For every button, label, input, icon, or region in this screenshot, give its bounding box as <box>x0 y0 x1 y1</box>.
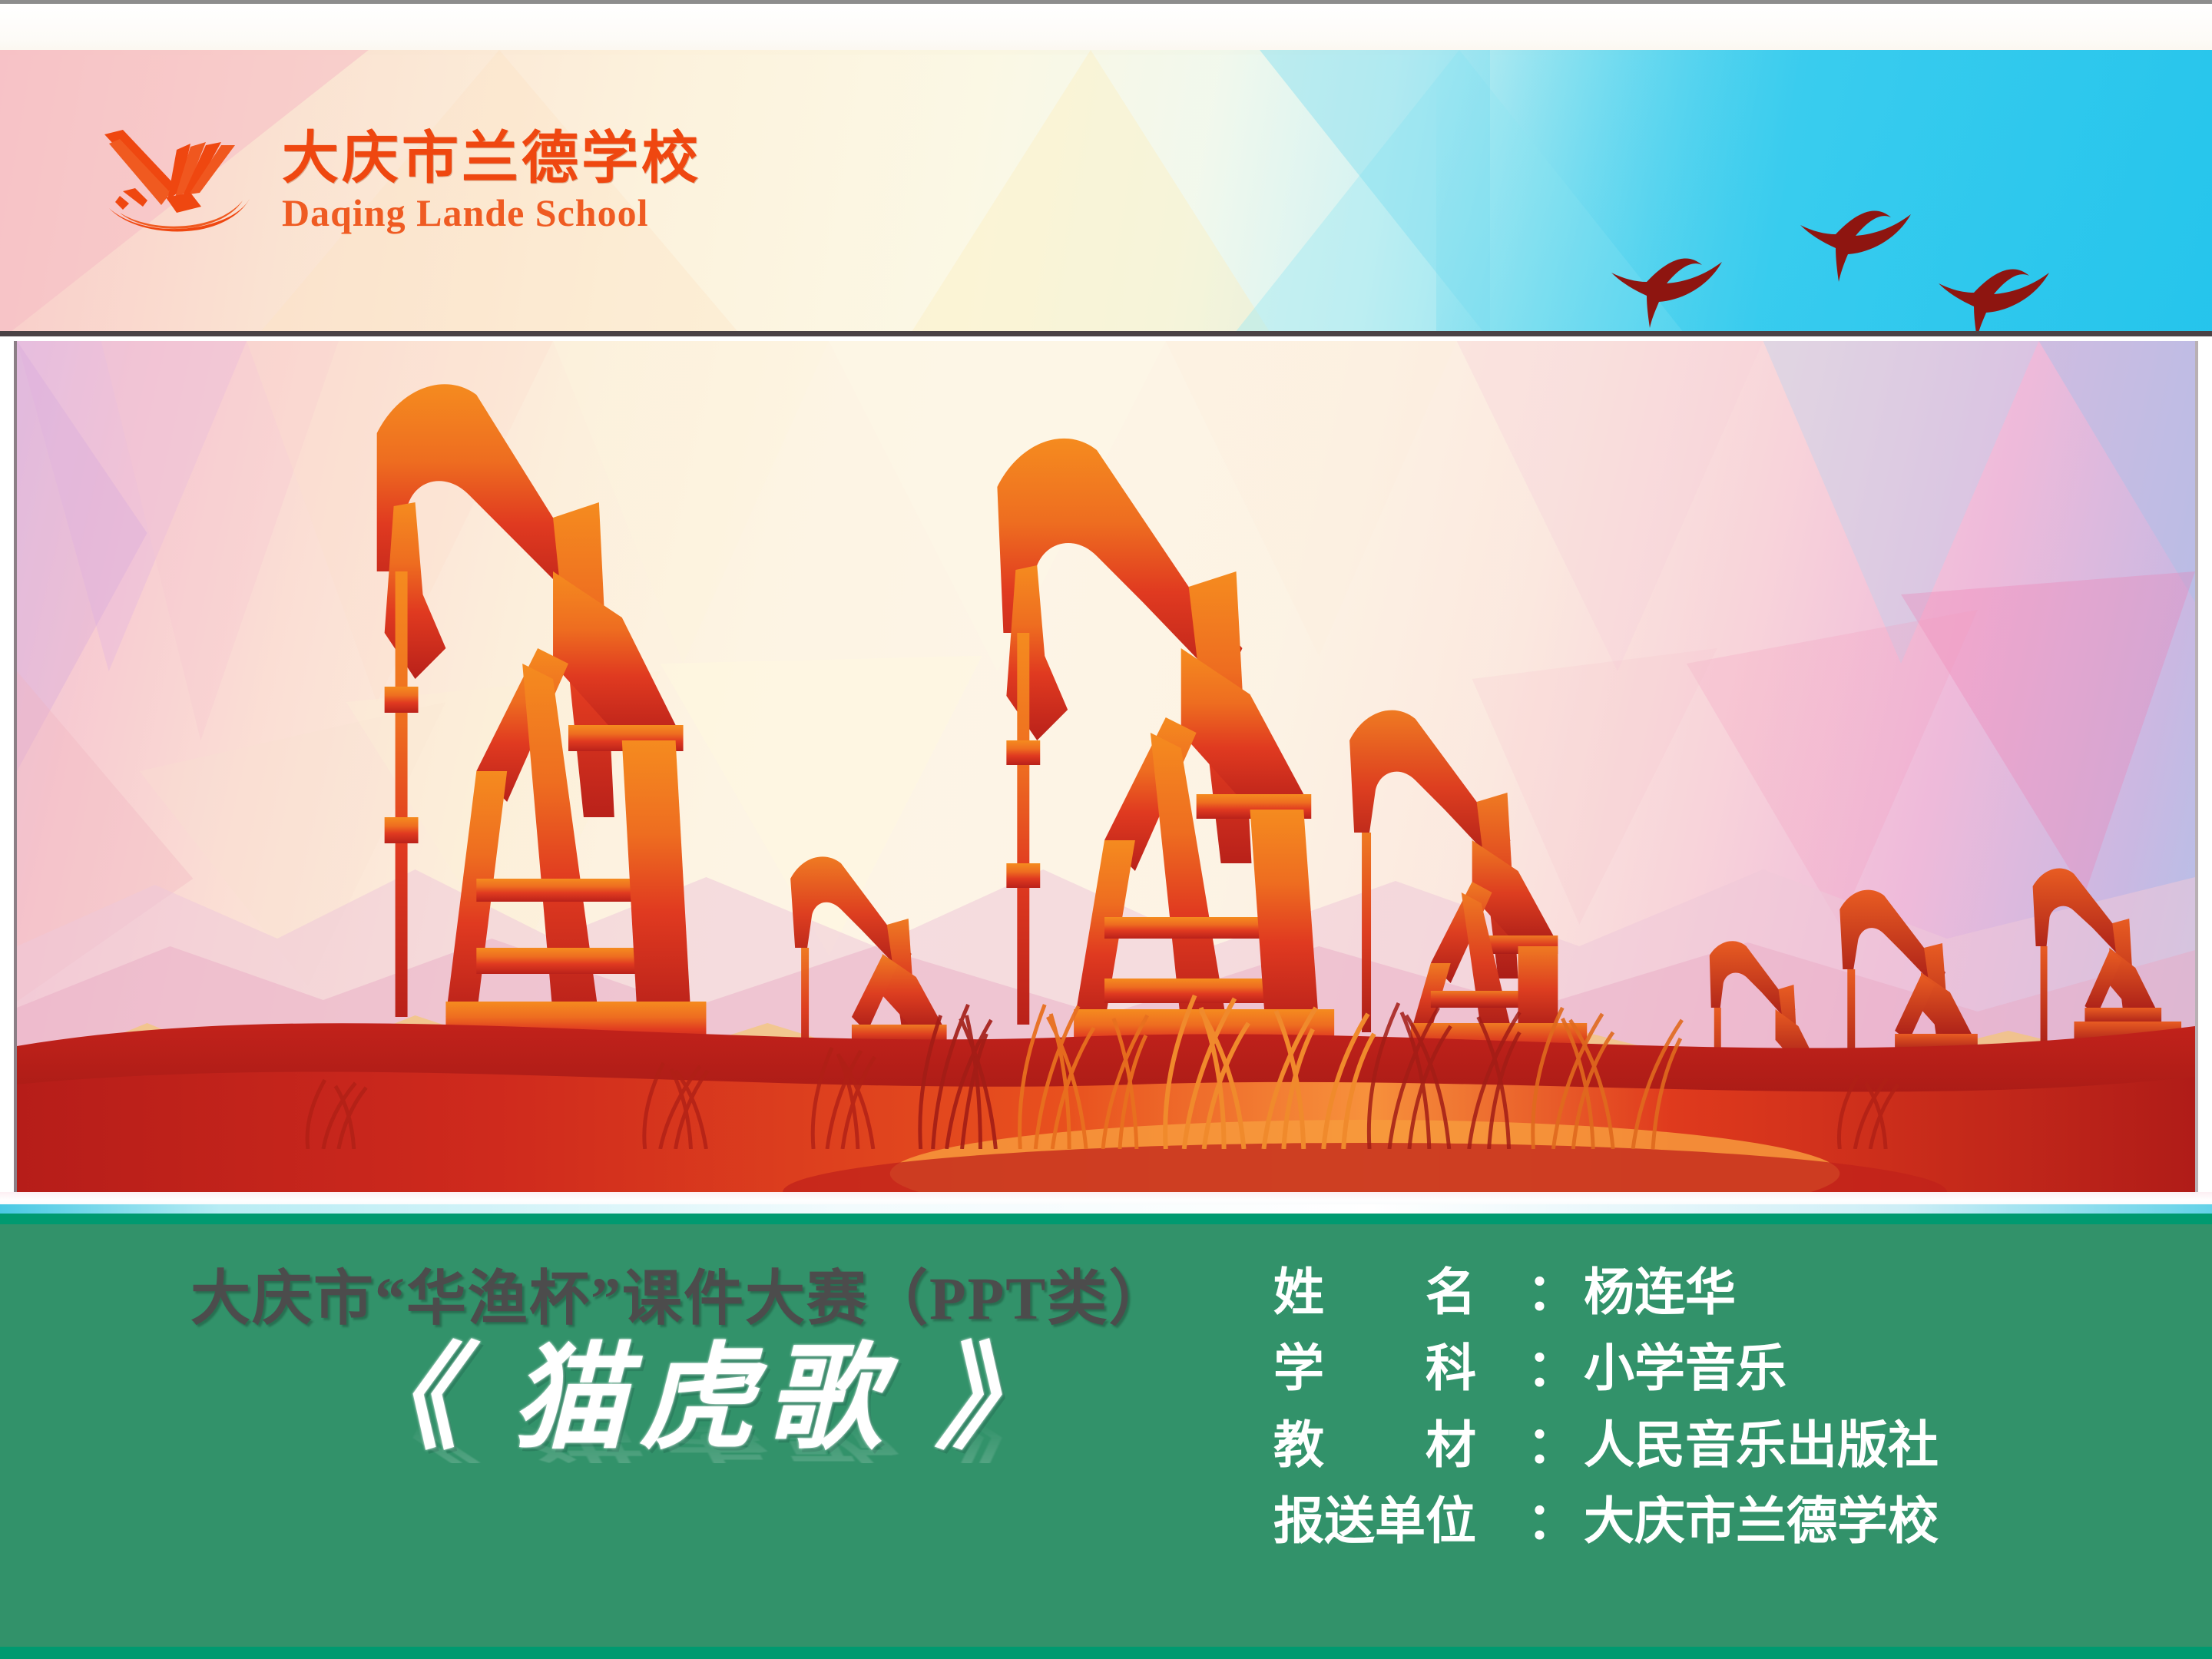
info-row-institution: 报送单位 ： 大庆市兰德学校 <box>1273 1495 1939 1548</box>
info-row-textbook: 教 材 ： 人民音乐出版社 <box>1273 1419 1939 1472</box>
flying-birds-icon <box>1306 119 2151 334</box>
lande-school-bird-book-logo-icon <box>100 127 265 234</box>
school-logo: 大庆市兰德学校 Daqing Lande School <box>100 127 701 234</box>
info-value-institution: 大庆市兰德学校 <box>1584 1495 1939 1548</box>
lesson-title-block: 《 猫虎歌 》 《 猫虎歌 》 <box>338 1341 1068 1581</box>
header-top-white-strip <box>0 4 2212 55</box>
info-row-subject: 学 科 ： 小学音乐 <box>1273 1342 1939 1395</box>
info-sep-institution: ： <box>1527 1495 1584 1548</box>
grass-reeds-icon <box>17 919 2195 1149</box>
footer-green-panel: 大庆市“华渔杯”课件大赛（PPT类） 《 猫虎歌 》 《 猫虎歌 》 姓 名 ：… <box>0 1214 2212 1659</box>
info-value-name: 杨连华 <box>1584 1266 1736 1319</box>
info-label-subject: 学 科 <box>1273 1342 1527 1395</box>
header-banner: 大庆市兰德学校 Daqing Lande School <box>0 0 2212 336</box>
info-value-textbook: 人民音乐出版社 <box>1584 1419 1939 1472</box>
presenter-info-list: 姓 名 ： 杨连华 学 科 ： 小学音乐 教 材 ： 人民音乐出版社 报送单位 … <box>1273 1266 1939 1548</box>
info-value-subject: 小学音乐 <box>1584 1342 1786 1395</box>
header-facet-yellow <box>906 50 1275 336</box>
presentation-title-slide: 大庆市兰德学校 Daqing Lande School <box>0 0 2212 1659</box>
info-sep-textbook: ： <box>1527 1419 1584 1472</box>
info-sep-subject: ： <box>1527 1342 1584 1395</box>
info-label-institution: 报送单位 <box>1273 1495 1527 1548</box>
lesson-title-reflection: 《 猫虎歌 》 <box>338 1407 1068 1463</box>
oilfield-scene-image <box>14 341 2198 1192</box>
info-label-textbook: 教 材 <box>1273 1419 1527 1472</box>
school-name-en: Daqing Lande School <box>282 194 701 232</box>
contest-subtitle: 大庆市“华渔杯”课件大赛（PPT类） <box>190 1250 1170 1336</box>
info-label-name: 姓 名 <box>1273 1266 1527 1319</box>
info-row-name: 姓 名 ： 杨连华 <box>1273 1266 1939 1319</box>
scene-bottom-blue-trim <box>0 1204 2212 1214</box>
school-logo-text: 大庆市兰德学校 Daqing Lande School <box>282 130 701 232</box>
school-name-cn: 大庆市兰德学校 <box>282 130 701 187</box>
info-sep-name: ： <box>1527 1266 1584 1319</box>
